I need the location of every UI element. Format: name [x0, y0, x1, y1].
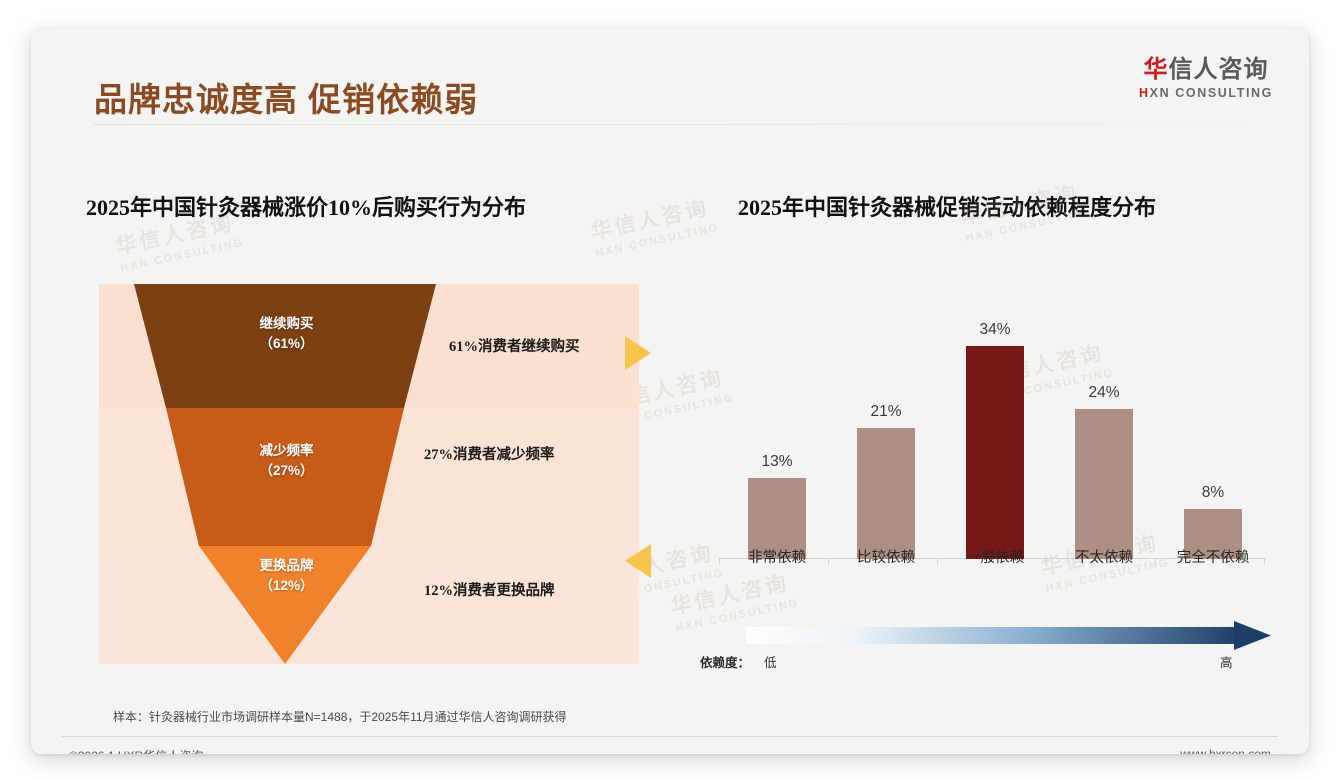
dependency-gradient-legend: 依赖度： 低 高 [686, 620, 1276, 680]
funnel-label-2: 减少频率 （27%） [214, 441, 359, 482]
logo-cn-rest: 信人咨询 [1169, 56, 1269, 83]
funnel-chart: 继续购买 （61%） 减少频率 （27%） 更换品牌 （12%） 61%消费者继… [99, 256, 639, 668]
logo-english-text: HXN CONSULTING [1139, 86, 1273, 100]
legend-low-label: 低 [764, 652, 777, 671]
gradient-arrow-icon [686, 620, 1276, 654]
legend-high-label: 高 [1220, 652, 1233, 671]
bar-category-0: 非常依赖 [722, 546, 832, 567]
footer-website: www.hxrcon.com [1180, 747, 1271, 754]
logo-en-accent-char: H [1139, 86, 1150, 100]
bar-category-4: 完全不依赖 [1150, 546, 1276, 567]
left-chart-title: 2025年中国针灸器械涨价10%后购买行为分布 [86, 190, 526, 222]
triangle-left-icon [619, 536, 659, 586]
sample-note: 样本：针灸器械行业市场调研样本量N=1488，于2025年11月通过华信人咨询调… [113, 708, 567, 725]
bar-value-2: 34% [966, 321, 1024, 339]
logo-en-rest: XN CONSULTING [1150, 86, 1273, 100]
funnel-side-label-2: 27%消费者减少频率 [424, 443, 555, 464]
logo-cn-accent-char: 华 [1144, 56, 1169, 83]
bar-value-4: 8% [1184, 484, 1242, 502]
watermark: 华信人咨询HXN CONSULTING [588, 190, 721, 259]
page-title: 品牌忠诚度高 促销依赖弱 [94, 73, 478, 121]
funnel-side-label-1: 61%消费者继续购买 [449, 335, 580, 356]
company-logo: 华信人咨询 HXN CONSULTING [1139, 56, 1273, 100]
bar-category-2: 一般依赖 [940, 546, 1050, 567]
bar-3[interactable] [1075, 409, 1133, 559]
funnel-side-label-3: 12%消费者更换品牌 [424, 579, 555, 600]
funnel-label-1: 继续购买 （61%） [214, 314, 359, 355]
funnel-label-3: 更换品牌 （12%） [219, 556, 354, 597]
bar-2[interactable] [966, 346, 1024, 559]
right-chart-title: 2025年中国针灸器械促销活动依赖程度分布 [738, 190, 1156, 222]
bar-value-3: 24% [1075, 384, 1133, 402]
bar-value-0: 13% [748, 453, 806, 471]
bar-value-1: 21% [857, 403, 915, 421]
footer-divider [62, 736, 1278, 737]
footer-copyright: ©2026.1 HXR华信人咨询 [69, 747, 203, 754]
bar-1[interactable] [857, 428, 915, 559]
legend-title: 依赖度： [700, 652, 750, 671]
header-divider [94, 124, 1249, 125]
bar-category-1: 比较依赖 [831, 546, 941, 567]
bar-category-3: 不太依赖 [1049, 546, 1159, 567]
logo-chinese-text: 华信人咨询 [1139, 56, 1273, 84]
bar-chart: 13% 非常依赖 21% 比较依赖 34% 一般依赖 24% 不太依赖 8% 完… [686, 256, 1266, 586]
triangle-right-icon [619, 328, 659, 378]
funnel-shape [99, 256, 639, 668]
slide-card: 品牌忠诚度高 促销依赖弱 华信人咨询 HXN CONSULTING 2025年中… [31, 28, 1309, 754]
